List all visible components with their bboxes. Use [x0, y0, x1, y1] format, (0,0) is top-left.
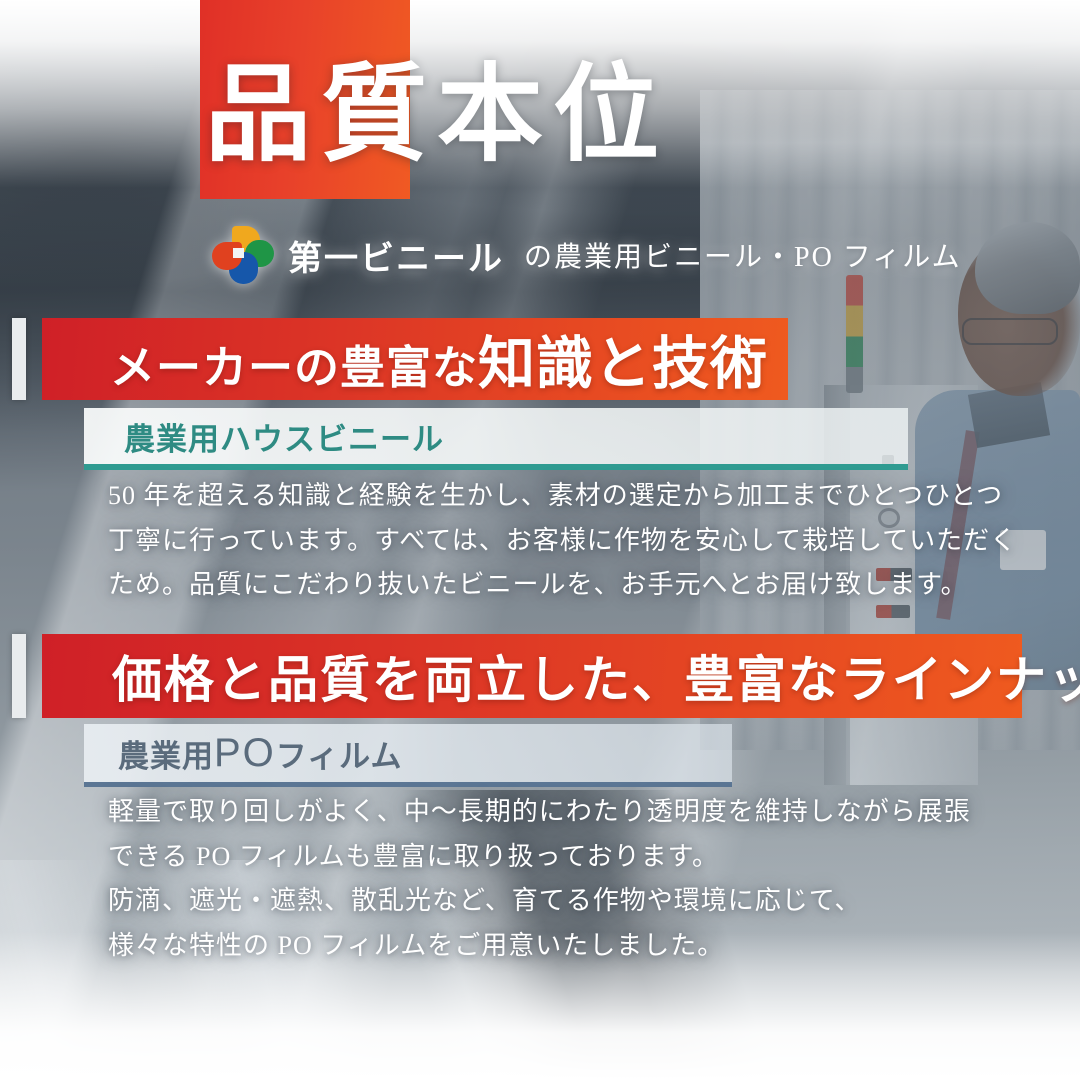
section-marker-2 — [12, 634, 26, 718]
page-title: 品質本位 — [205, 63, 669, 169]
section-banner-1: メーカーの豊富な知識と技術 — [42, 318, 788, 400]
body-line: 防滴、遮光・遮熱、散乱光など、育てる作物や環境に応じて、 — [108, 879, 898, 924]
section-body-2: 軽量で取り回しがよく、中～長期的にわたり透明度を維持しながら展張 できる PO … — [108, 790, 898, 969]
body-line: 様々な特性の PO フィルムをご用意いたしました。 — [108, 924, 898, 969]
section-subheading-2-po: PO — [214, 731, 276, 776]
section-marker-1 — [12, 318, 26, 400]
section-subheading-1: 農業用ハウスビニール — [84, 408, 908, 470]
body-line: できる PO フィルムも豊富に取り扱っております。 — [108, 835, 898, 880]
brand-tagline: の農業用ビニール・PO フィルム — [524, 235, 962, 275]
promo-poster: 品質本位 第一ビニール の農業用ビニール・PO フィルム メーカーの豊富な知識と… — [0, 0, 1080, 1080]
brand-name: 第一ビニール — [288, 231, 504, 280]
section-banner-1-lead: メーカーの豊富な — [110, 343, 478, 393]
section-banner-2: 価格と品質を両立した、豊富なラインナップ — [42, 634, 1022, 718]
section-subheading-1-label: 農業用ハウスビニール — [124, 414, 444, 459]
body-line: ため。品質にこだわり抜いたビニールを、お手元へとお届け致します。 — [108, 563, 908, 608]
section-body-1: 50 年を超える知識と経験を生かし、素材の選定から加工までひとつひとつ 丁寧に行… — [108, 474, 908, 608]
body-line: 丁寧に行っています。すべては、お客様に作物を安心して栽培していただく — [108, 519, 908, 564]
logo-center-notch — [233, 248, 244, 258]
brand-line: 第一ビニール の農業用ビニール・PO フィルム — [212, 226, 962, 284]
section-banner-1-emphasis: 知識と技術 — [478, 333, 768, 396]
dai-ichi-vinyl-flower-logo-icon — [212, 226, 274, 284]
body-line: 50 年を超える知識と経験を生かし、素材の選定から加工までひとつひとつ — [108, 474, 908, 519]
section-banner-2-label: 価格と品質を両立した、豊富なラインナップ — [112, 640, 1080, 712]
section-subheading-2-suffix: フィルム — [276, 731, 403, 776]
section-subheading-2: 農業用POフィルム — [84, 724, 732, 787]
section-subheading-2-prefix: 農業用 — [118, 731, 214, 776]
body-line: 軽量で取り回しがよく、中～長期的にわたり透明度を維持しながら展張 — [108, 790, 898, 835]
